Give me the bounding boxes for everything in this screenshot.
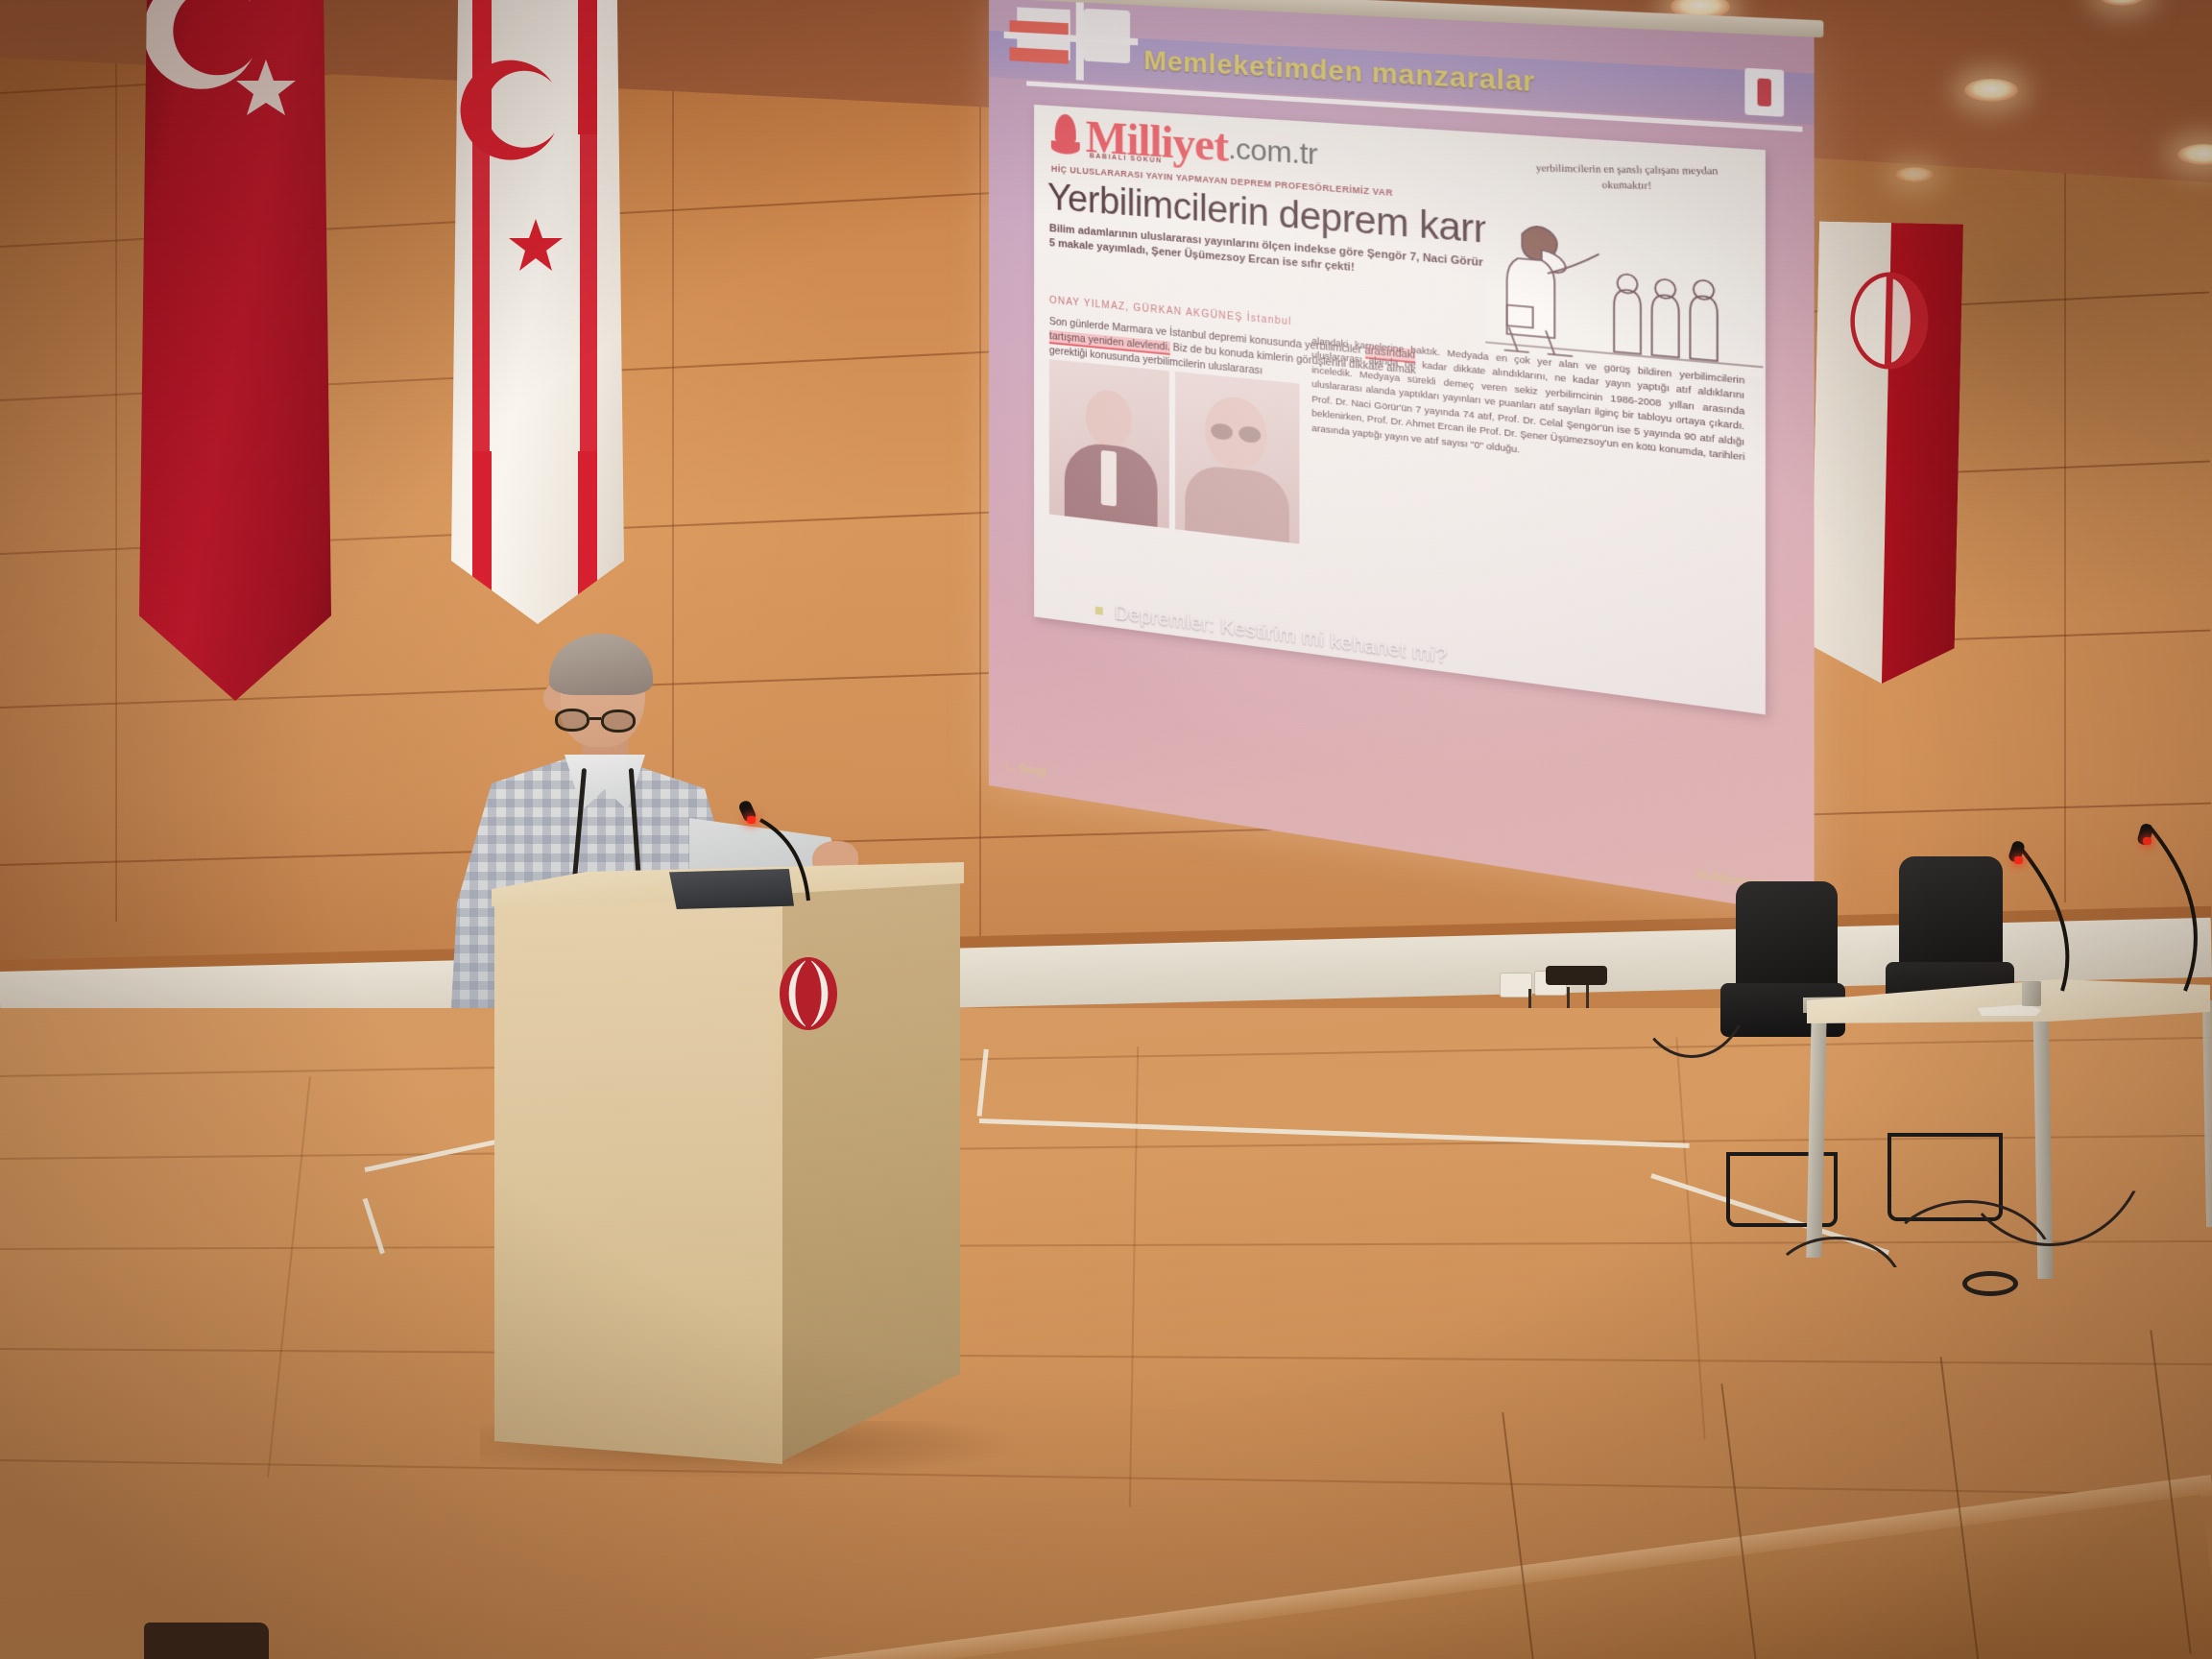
- turkish-flag: [139, 0, 331, 701]
- eyeglass-lens: [601, 709, 636, 733]
- milliyet-masthead: Milliyet .com.tr: [1051, 113, 1317, 172]
- microphone-led: [2014, 856, 2023, 864]
- conference-hall-photo: Memleketimden manzaralar Milliyet .com.t…: [0, 0, 2212, 1659]
- photo-body: [1185, 464, 1289, 544]
- northern-cyprus-flag: [451, 0, 624, 624]
- odtu-metu-logo: [774, 953, 843, 1034]
- wall-seam: [979, 0, 981, 950]
- eyeglass-lens: [555, 709, 589, 732]
- eyeglasses-icon: [555, 709, 649, 733]
- podium-microphone: [672, 805, 864, 929]
- chair-backrest: [1736, 881, 1838, 998]
- portrait-photo-left: [1049, 359, 1169, 528]
- wall-outlet[interactable]: [1500, 973, 1532, 998]
- ceiling-downlight: [1895, 167, 1934, 182]
- cartoon-drawing: [1485, 204, 1763, 380]
- wall-seam: [2064, 115, 2066, 902]
- metu-banner: [1810, 221, 1963, 685]
- wall-floor-box[interactable]: [1546, 966, 1607, 985]
- bullet-square-icon: [1095, 607, 1103, 615]
- microphone-led: [2143, 837, 2152, 845]
- slide-footer-author: L. Sevgi: [1006, 759, 1047, 780]
- wall-seam: [115, 0, 117, 922]
- microphone-led: [747, 816, 756, 824]
- table-microphone: [1978, 828, 2131, 1000]
- presentation-slide: Memleketimden manzaralar Milliyet .com.t…: [989, 0, 1815, 916]
- odtu-metu-logo: [1810, 221, 1963, 685]
- masthead-tld: .com.tr: [1228, 132, 1317, 173]
- slide-corner-logo: [1744, 68, 1784, 117]
- projection-screen: Memleketimden manzaralar Milliyet .com.t…: [989, 0, 1815, 931]
- cartoon-caption: yerbilimcilerin en şanslı çalışanı meyda…: [1510, 160, 1745, 196]
- foreground-object: [144, 1623, 269, 1659]
- photo-face: [1086, 388, 1132, 449]
- lectern-front-panel: [494, 888, 782, 1464]
- portrait-photo-right: [1175, 372, 1299, 544]
- flame-icon: [1051, 113, 1080, 156]
- photo-shirt: [1101, 450, 1117, 507]
- cable-coil: [1962, 1271, 2018, 1296]
- eyeglass-bridge: [589, 717, 601, 720]
- newspaper-cartoon: yerbilimcilerin en şanslı çalışanı meyda…: [1485, 139, 1763, 378]
- ceiling-downlight: [1964, 79, 2018, 102]
